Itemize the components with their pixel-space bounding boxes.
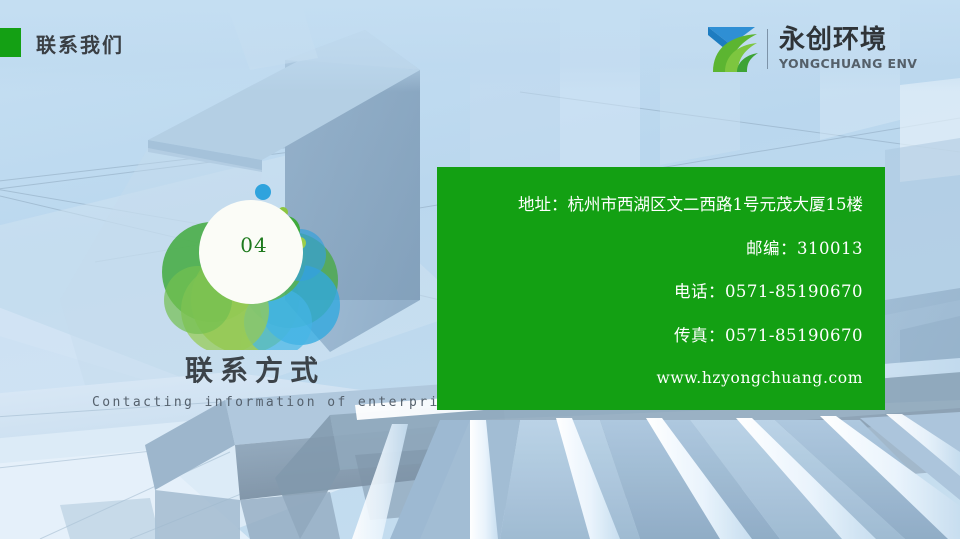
logo-text-block: 永创环境 YONGCHUANG ENV bbox=[779, 27, 917, 70]
header-green-marker-icon bbox=[0, 28, 21, 57]
logo-divider bbox=[767, 29, 768, 69]
section-number: 04 bbox=[149, 140, 359, 350]
logo-name-cn: 永创环境 bbox=[779, 27, 917, 54]
contact-website[interactable]: www.hzyongchuang.com bbox=[437, 371, 863, 387]
section-subheading: Contacting information of enterprise bbox=[92, 395, 460, 410]
section-number-badge: 04 bbox=[150, 140, 360, 350]
section-heading: 联系方式 bbox=[185, 349, 325, 389]
yongchuang-leaf-logo-icon bbox=[705, 23, 761, 75]
logo-name-en: YONGCHUANG ENV bbox=[779, 56, 917, 71]
contact-address: 地址：杭州市西湖区文二西路1号元茂大厦15楼 bbox=[437, 197, 863, 214]
contact-phone: 电话：0571-85190670 bbox=[437, 284, 863, 301]
slide-root: 联系我们 永创环境 YONGCHUANG ENV bbox=[0, 0, 960, 539]
contact-fax: 传真：0571-85190670 bbox=[437, 328, 863, 345]
company-logo[interactable]: 永创环境 YONGCHUANG ENV bbox=[705, 20, 917, 78]
contact-info-panel: 地址：杭州市西湖区文二西路1号元茂大厦15楼 邮编：310013 电话：0571… bbox=[437, 167, 885, 410]
contact-postcode: 邮编：310013 bbox=[437, 241, 863, 258]
page-title: 联系我们 bbox=[36, 29, 124, 58]
